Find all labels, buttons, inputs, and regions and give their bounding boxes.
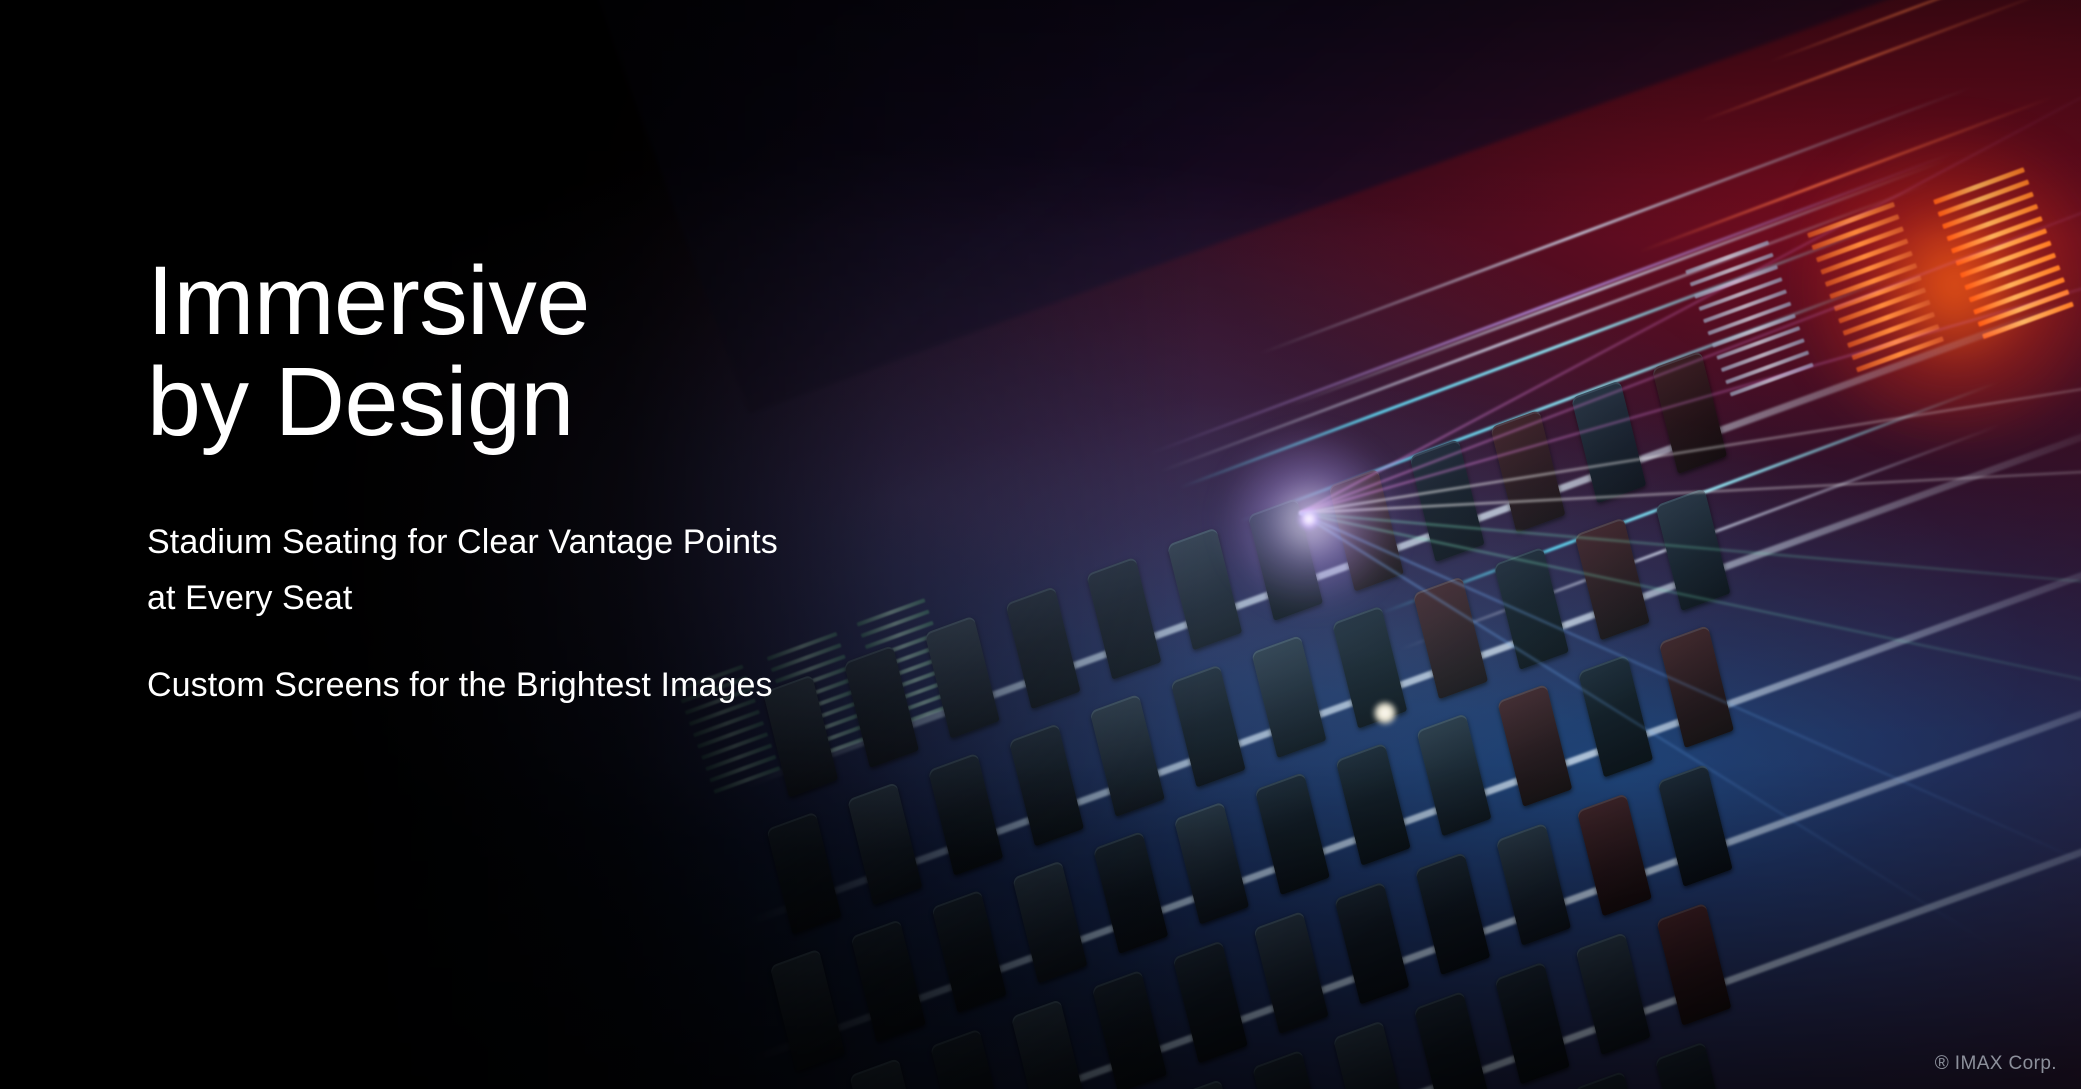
projector-beam-core [1298,508,1320,530]
copyright-credit: ® IMAX Corp. [1935,1053,2057,1075]
hero-subcopy-line: Stadium Seating for Clear Vantage Points… [147,514,1247,626]
hero-copy: Immersive by Design Stadium Seating for … [147,250,1247,713]
hero-subcopy-list: Stadium Seating for Clear Vantage Points… [147,452,1247,713]
hero-banner: Immersive by Design Stadium Seating for … [0,0,2081,1089]
page-title: Immersive by Design [147,250,1247,452]
hero-subcopy-line: Custom Screens for the Brightest Images [147,657,1247,713]
seat-aisle-light [1372,700,1398,726]
